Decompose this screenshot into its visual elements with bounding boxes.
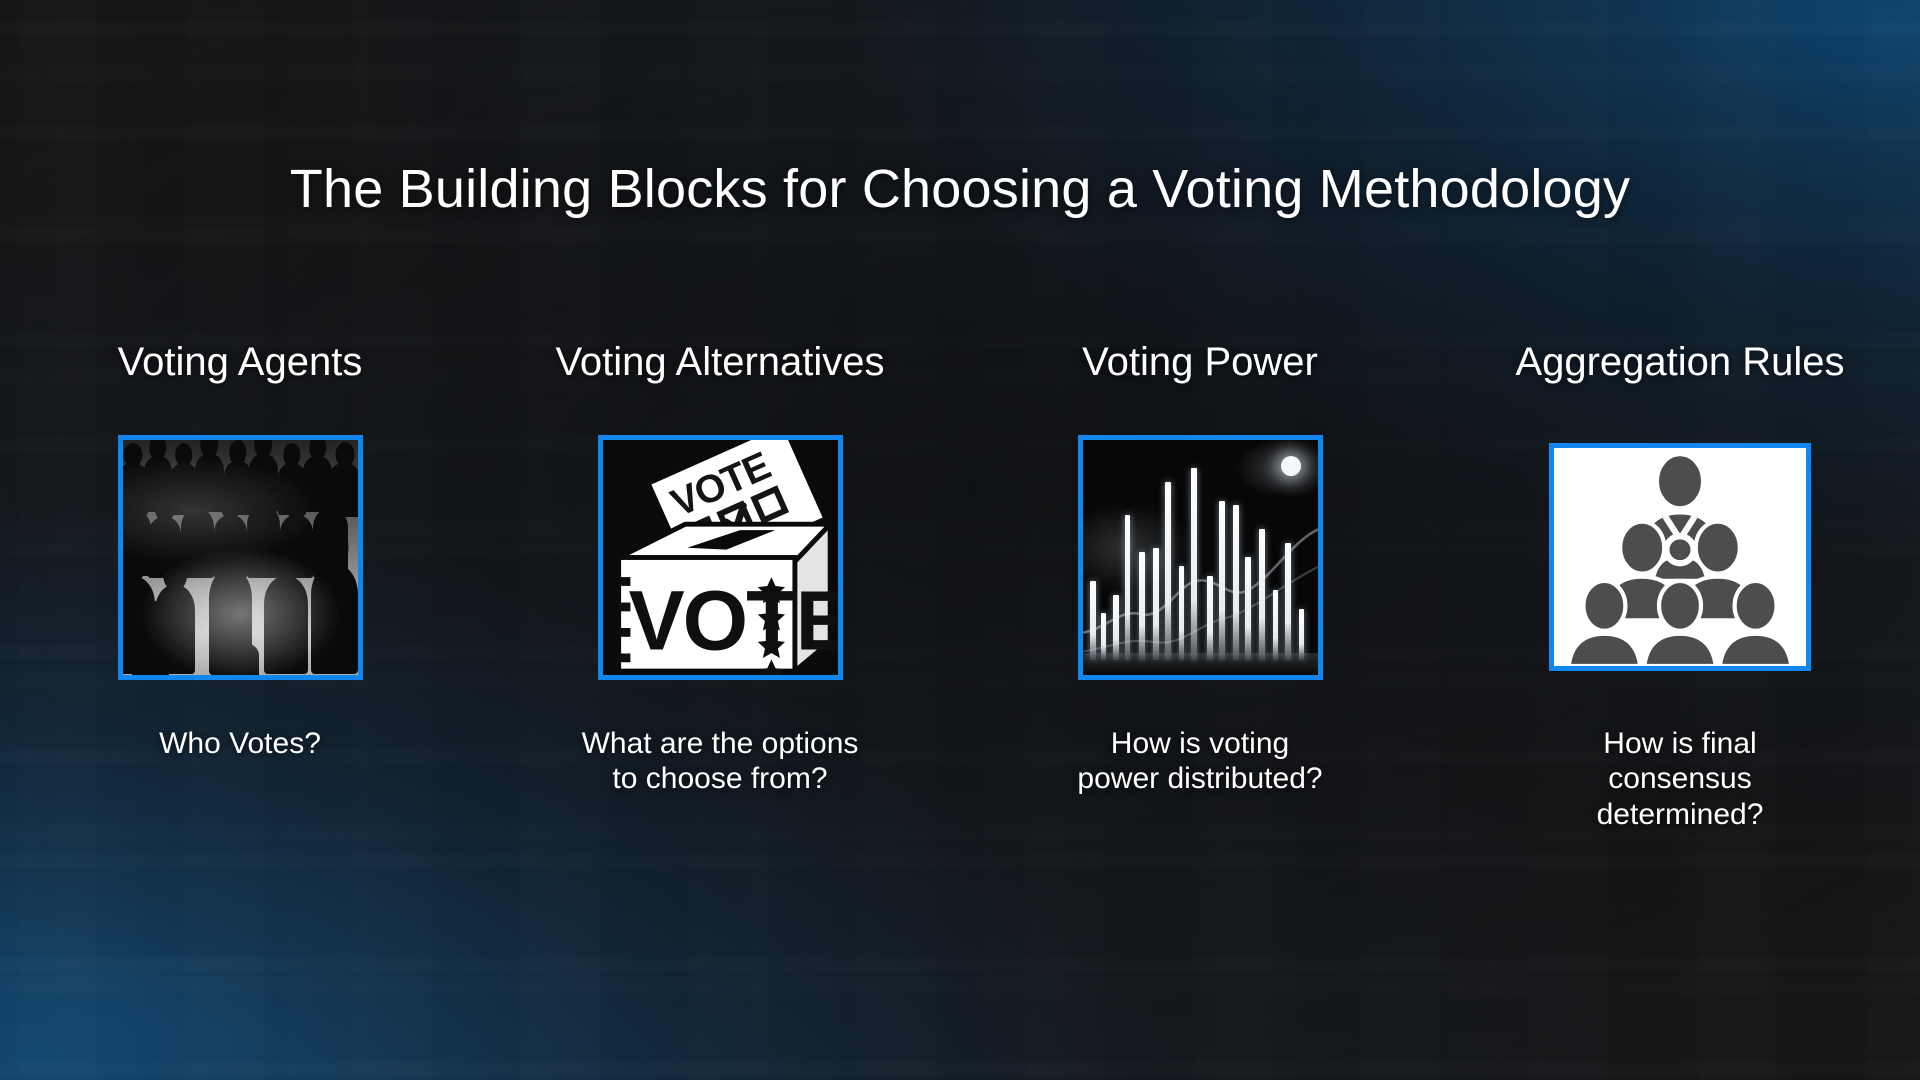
column-heading-voting-agents: Voting Agents (118, 340, 363, 384)
ballot-box-icon: VOTE (603, 440, 838, 675)
caption-voting-power: How is voting power distributed? (1077, 726, 1322, 796)
tile-wrap-voting-power (1078, 432, 1323, 682)
building-blocks-row: Voting Agents (0, 340, 1920, 960)
ballot-box-svg: VOTE (603, 440, 838, 675)
tile-wrap-voting-alternatives: VOTE (598, 432, 843, 682)
column-voting-power: Voting Power (960, 340, 1440, 796)
tile-wrap-voting-agents (118, 432, 363, 682)
people-pyramid-icon (1554, 448, 1806, 666)
image-tile-people-pyramid (1549, 443, 1811, 671)
slide-canvas: The Building Blocks for Choosing a Votin… (0, 0, 1920, 1080)
column-heading-aggregation-rules: Aggregation Rules (1515, 340, 1844, 384)
image-tile-ballot-box: VOTE (598, 435, 843, 680)
svg-text:VOTE: VOTE (628, 573, 838, 667)
caption-line: How is voting (1077, 726, 1322, 761)
column-aggregation-rules: Aggregation Rules (1440, 340, 1920, 832)
caption-line: What are the options (582, 726, 859, 761)
column-heading-voting-alternatives: Voting Alternatives (555, 340, 884, 384)
image-tile-bar-chart (1078, 435, 1323, 680)
caption-line: to choose from? (582, 761, 859, 796)
caption-line: determined? (1597, 797, 1764, 832)
caption-line: consensus (1597, 761, 1764, 796)
slide-title: The Building Blocks for Choosing a Votin… (0, 158, 1920, 220)
column-heading-voting-power: Voting Power (1082, 340, 1318, 384)
image-tile-crowd-photo (118, 435, 363, 680)
tile-wrap-aggregation-rules (1549, 432, 1811, 682)
caption-voting-agents: Who Votes? (159, 726, 321, 761)
bar-chart-photo-icon (1083, 440, 1318, 675)
people-pyramid-svg (1554, 448, 1806, 666)
caption-line: power distributed? (1077, 761, 1322, 796)
caption-aggregation-rules: How is final consensus determined? (1597, 726, 1764, 832)
column-voting-agents: Voting Agents (0, 340, 480, 761)
column-voting-alternatives: Voting Alternatives VOTE (480, 340, 960, 796)
caption-voting-alternatives: What are the options to choose from? (582, 726, 859, 796)
trend-line (1083, 440, 1318, 675)
crowd-photo-icon (123, 440, 358, 675)
caption-line: How is final (1597, 726, 1764, 761)
